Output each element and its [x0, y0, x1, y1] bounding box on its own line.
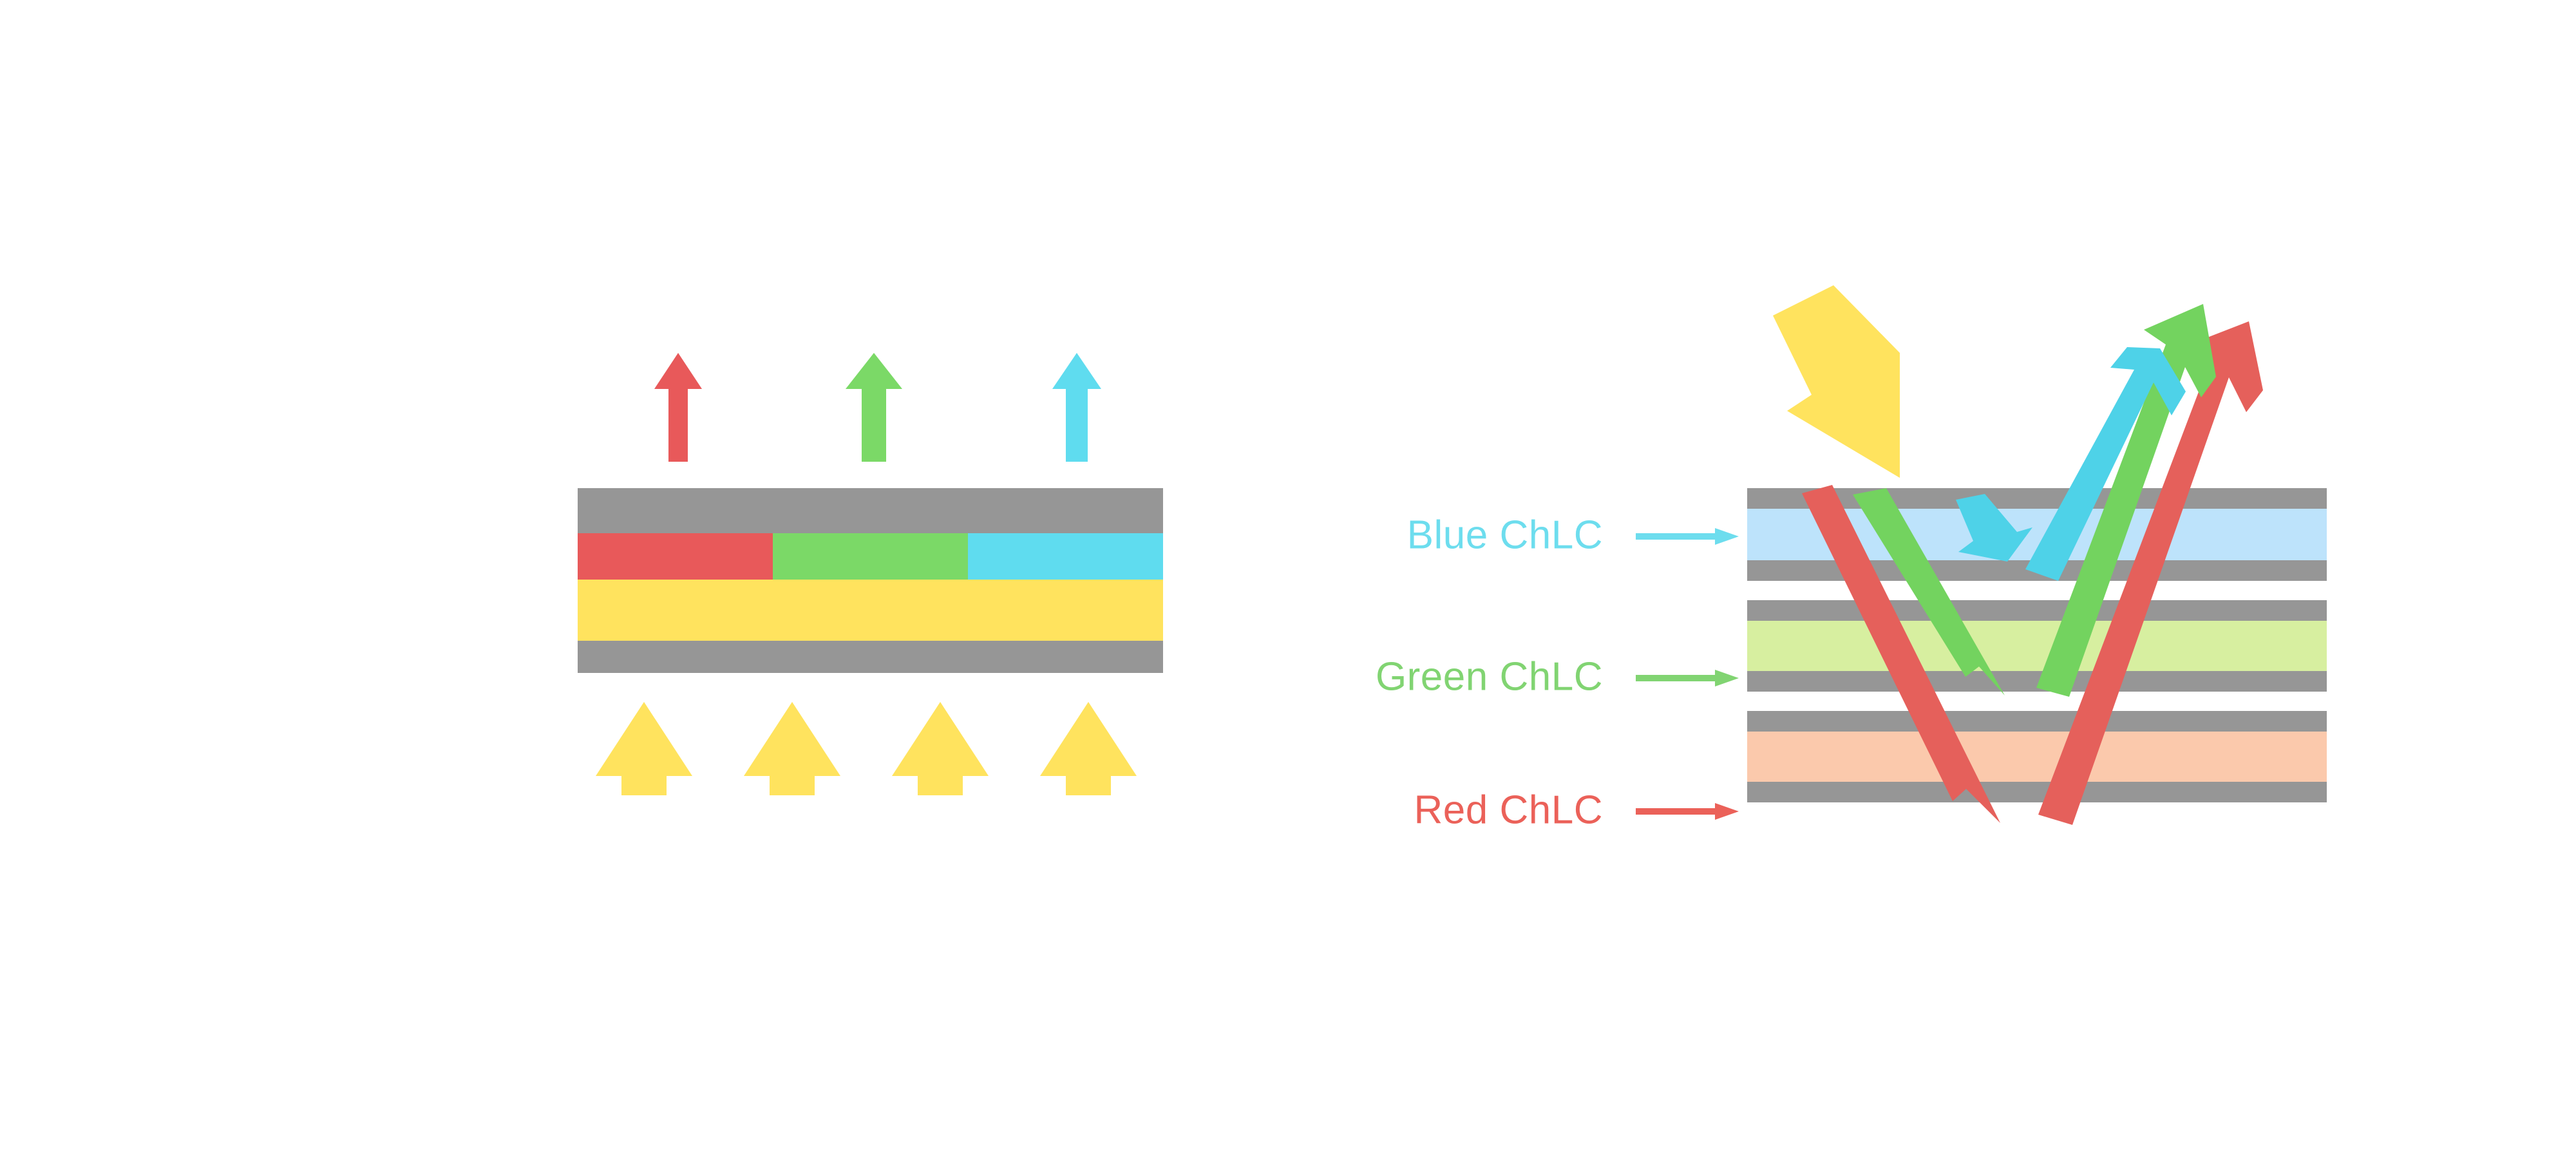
label-red-chlc: Red ChLC: [1414, 788, 1603, 832]
right-layer-green-chlc: [1747, 621, 2327, 671]
label-blue-chlc: Blue ChLC: [1407, 513, 1603, 557]
left-layer-top-electrode: [578, 488, 1163, 533]
right-layer-substrate-3: [1747, 600, 2327, 621]
right-layer-substrate-bottom: [1747, 782, 2327, 802]
left-layer-backlight: [578, 580, 1163, 641]
left-layer-color-filter-green: [773, 533, 968, 580]
left-layer-bottom-electrode: [578, 641, 1163, 673]
chlc-display-diagram: Blue ChLC Green ChLC Red ChLC: [0, 0, 2576, 1154]
right-layer-substrate-4: [1747, 671, 2327, 692]
label-green-chlc: Green ChLC: [1376, 654, 1603, 699]
left-layer-color-filter-red: [578, 533, 773, 580]
right-layer-substrate-5: [1747, 711, 2327, 732]
right-layer-red-chlc: [1747, 732, 2327, 782]
left-layer-stack: [578, 488, 1163, 673]
left-layer-color-filter-blue: [968, 533, 1163, 580]
